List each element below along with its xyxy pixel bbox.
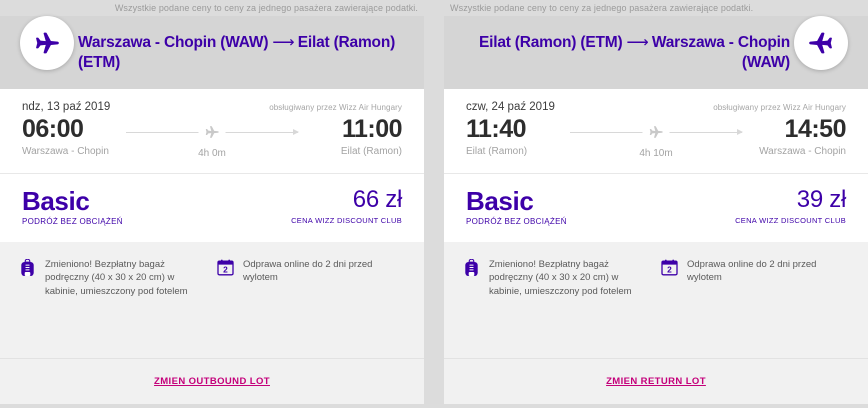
- arrival-endpoint: 11:00 Eilat (Ramon): [306, 115, 402, 157]
- amenity-baggage: Zmieniono! Bezpłatny bagaż podręczny (40…: [18, 258, 208, 348]
- flight-meta-row: ndz, 13 paź 2019 obsługiwany przez Wizz …: [22, 101, 402, 113]
- fare-name-block: Basic PODRÓŻ BEZ OBCIĄŻEŃ: [22, 188, 123, 226]
- arrival-airport: Warszawa - Chopin: [750, 146, 846, 157]
- amenity-checkin-text: Odprawa online do 2 dni przed wylotem: [243, 258, 406, 285]
- operated-by-text: obsługiwany przez Wizz Air Hungary: [713, 103, 846, 112]
- card-footer: ZMIEN RETURN LOT: [444, 358, 868, 404]
- change-outbound-flight-link[interactable]: ZMIEN OUTBOUND LOT: [154, 376, 270, 387]
- fare-name: Basic: [466, 188, 567, 214]
- flight-meta-row: czw, 24 paź 2019 obsługiwany przez Wizz …: [466, 101, 846, 113]
- route-origin: Warszawa - Chopin (WAW): [78, 34, 268, 51]
- route-arrow-icon: ⟶: [272, 34, 293, 51]
- card-footer: ZMIEN OUTBOUND LOT: [0, 358, 424, 404]
- amenity-checkin: 2 Odprawa online do 2 dni przed wylotem: [660, 258, 850, 348]
- flight-times-row: 06:00 Warszawa - Chopin 4h 0m: [22, 115, 402, 159]
- arrival-airport: Eilat (Ramon): [306, 146, 402, 157]
- return-flight-card: Wszystkie podane ceny to ceny za jednego…: [444, 0, 868, 408]
- route-title: Eilat (Ramon) (ETM) ⟶ Warszawa - Chopin …: [458, 33, 790, 73]
- fare-subtitle: PODRÓŻ BEZ OBCIĄŻEŃ: [466, 217, 567, 226]
- path-line: [570, 125, 742, 139]
- fare-price-label: CENA WIZZ DISCOUNT CLUB: [735, 216, 846, 225]
- fare-subtitle: PODRÓŻ BEZ OBCIĄŻEŃ: [22, 217, 123, 226]
- svg-text:2: 2: [667, 264, 672, 274]
- route-header-band: Warszawa - Chopin (WAW) ⟶ Eilat (Ramon) …: [0, 16, 424, 89]
- departure-time: 06:00: [22, 115, 118, 143]
- flight-path-graphic: 4h 10m: [562, 115, 750, 159]
- path-arrowhead-icon: [293, 129, 299, 135]
- fare-price-block: 66 zł CENA WIZZ DISCOUNT CLUB: [291, 188, 402, 225]
- route-destination: Warszawa - Chopin (WAW): [652, 34, 790, 71]
- fare-price: 66 zł: [291, 188, 402, 212]
- calendar-2-icon: 2: [216, 258, 234, 278]
- departure-airport: Eilat (Ramon): [466, 146, 562, 157]
- flight-duration: 4h 10m: [570, 148, 742, 159]
- price-disclaimer-text: Wszystkie podane ceny to ceny za jednego…: [450, 3, 753, 13]
- departure-airport: Warszawa - Chopin: [22, 146, 118, 157]
- departure-endpoint: 11:40 Eilat (Ramon): [466, 115, 562, 157]
- arrival-endpoint: 14:50 Warszawa - Chopin: [750, 115, 846, 157]
- flight-selection-page: Wszystkie podane ceny to ceny za jednego…: [0, 0, 868, 408]
- card-bottom-pad: [444, 404, 868, 408]
- amenities-section: Zmieniono! Bezpłatny bagaż podręczny (40…: [444, 242, 868, 358]
- fare-section[interactable]: Basic PODRÓŻ BEZ OBCIĄŻEŃ 39 zł CENA WIZ…: [444, 174, 868, 242]
- fare-name: Basic: [22, 188, 123, 214]
- operated-by-text: obsługiwany przez Wizz Air Hungary: [269, 103, 402, 112]
- departure-endpoint: 06:00 Warszawa - Chopin: [22, 115, 118, 157]
- calendar-2-icon: 2: [660, 258, 678, 278]
- departure-time: 11:40: [466, 115, 562, 143]
- price-disclaimer-text: Wszystkie podane ceny to ceny za jednego…: [115, 3, 418, 13]
- fare-name-block: Basic PODRÓŻ BEZ OBCIĄŻEŃ: [466, 188, 567, 226]
- amenity-baggage-text: Zmieniono! Bezpłatny bagaż podręczny (40…: [489, 258, 652, 298]
- arrival-time: 11:00: [306, 115, 402, 143]
- flight-duration: 4h 0m: [126, 148, 298, 159]
- amenity-baggage-text: Zmieniono! Bezpłatny bagaż podręczny (40…: [45, 258, 208, 298]
- amenity-baggage: Zmieniono! Bezpłatny bagaż podręczny (40…: [462, 258, 652, 348]
- backpack-icon: [462, 258, 480, 278]
- airplane-left-icon: [794, 16, 848, 70]
- fare-section[interactable]: Basic PODRÓŻ BEZ OBCIĄŻEŃ 66 zł CENA WIZ…: [0, 174, 424, 242]
- path-airplane-icon: [199, 124, 226, 141]
- fare-price-label: CENA WIZZ DISCOUNT CLUB: [291, 216, 402, 225]
- outbound-flight-card: Wszystkie podane ceny to ceny za jednego…: [0, 0, 424, 408]
- route-origin: Eilat (Ramon) (ETM): [479, 34, 622, 51]
- fare-price: 39 zł: [735, 188, 846, 212]
- route-title: Warszawa - Chopin (WAW) ⟶ Eilat (Ramon) …: [78, 33, 410, 73]
- disclaimer-strip: Wszystkie podane ceny to ceny za jednego…: [0, 0, 424, 16]
- disclaimer-strip: Wszystkie podane ceny to ceny za jednego…: [444, 0, 868, 16]
- route-header-band: Eilat (Ramon) (ETM) ⟶ Warszawa - Chopin …: [444, 16, 868, 89]
- amenity-checkin-text: Odprawa online do 2 dni przed wylotem: [687, 258, 850, 285]
- flight-times-row: 11:40 Eilat (Ramon) 4h 10m: [466, 115, 846, 159]
- flight-path-graphic: 4h 0m: [118, 115, 306, 159]
- path-airplane-icon: [643, 124, 670, 141]
- path-line: [126, 125, 298, 139]
- path-arrowhead-icon: [737, 129, 743, 135]
- flight-details-section: ndz, 13 paź 2019 obsługiwany przez Wizz …: [0, 89, 424, 173]
- airplane-right-icon: [20, 16, 74, 70]
- flight-date: ndz, 13 paź 2019: [22, 101, 110, 113]
- flight-date: czw, 24 paź 2019: [466, 101, 555, 113]
- card-bottom-pad: [0, 404, 424, 408]
- amenities-section: Zmieniono! Bezpłatny bagaż podręczny (40…: [0, 242, 424, 358]
- backpack-icon: [18, 258, 36, 278]
- flight-details-section: czw, 24 paź 2019 obsługiwany przez Wizz …: [444, 89, 868, 173]
- route-arrow-icon: ⟶: [627, 34, 648, 51]
- amenity-checkin: 2 Odprawa online do 2 dni przed wylotem: [216, 258, 406, 348]
- fare-price-block: 39 zł CENA WIZZ DISCOUNT CLUB: [735, 188, 846, 225]
- arrival-time: 14:50: [750, 115, 846, 143]
- svg-text:2: 2: [223, 264, 228, 274]
- change-return-flight-link[interactable]: ZMIEN RETURN LOT: [606, 376, 706, 387]
